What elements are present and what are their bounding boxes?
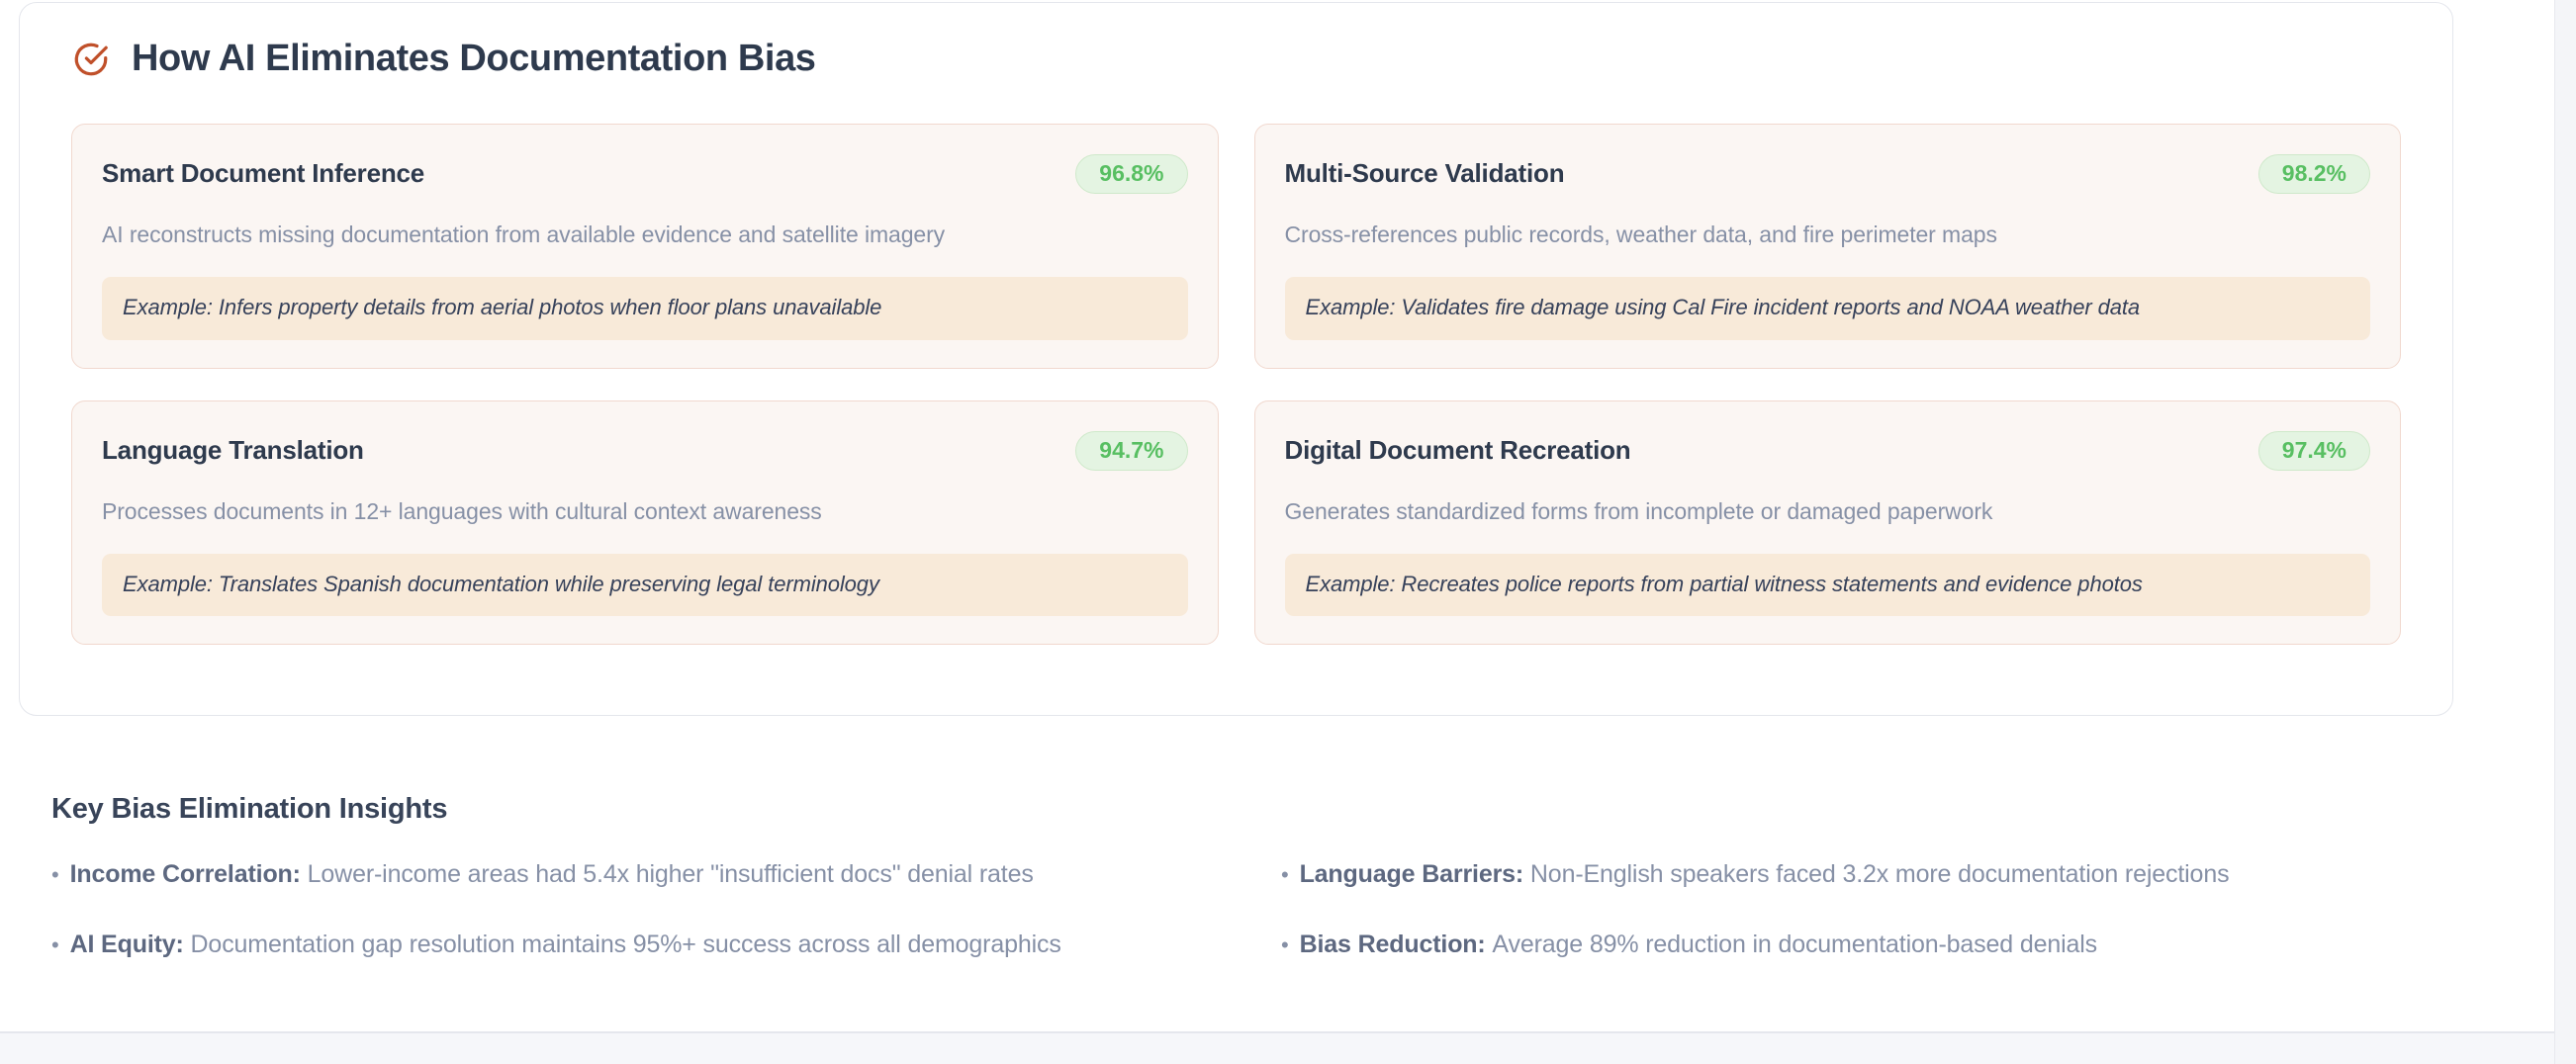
- bullet-icon: •: [1281, 934, 1289, 956]
- page-scrollbar-track[interactable]: [2554, 0, 2576, 1064]
- check-circle-icon: [72, 41, 110, 78]
- card-header: Digital Document Recreation 97.4%: [1285, 431, 2371, 471]
- insight-body: Language Barriers: Non-English speakers …: [1300, 859, 2230, 890]
- insight-item: • Language Barriers: Non-English speaker…: [1281, 859, 2445, 890]
- feature-card-grid: Smart Document Inference 96.8% AI recons…: [20, 78, 2452, 645]
- insight-text: Non-English speakers faced 3.2x more doc…: [1530, 860, 2230, 888]
- page-title: How AI Eliminates Documentation Bias: [132, 40, 816, 77]
- bullet-icon: •: [51, 934, 59, 956]
- insight-body: AI Equity: Documentation gap resolution …: [70, 930, 1061, 960]
- card-title: Smart Document Inference: [102, 159, 424, 189]
- insight-body: Bias Reduction: Average 89% reduction in…: [1300, 930, 2097, 960]
- insight-body: Income Correlation: Lower-income areas h…: [70, 859, 1034, 890]
- card-title: Language Translation: [102, 436, 364, 466]
- accuracy-badge: 96.8%: [1075, 154, 1187, 194]
- insight-item: • Bias Reduction: Average 89% reduction …: [1281, 930, 2445, 960]
- card-example: Example: Infers property details from ae…: [102, 277, 1188, 340]
- feature-card[interactable]: Smart Document Inference 96.8% AI recons…: [71, 124, 1219, 369]
- feature-card[interactable]: Language Translation 94.7% Processes doc…: [71, 400, 1219, 646]
- documentation-bias-panel: How AI Eliminates Documentation Bias Sma…: [19, 2, 2453, 716]
- card-description: Cross-references public records, weather…: [1285, 220, 2371, 250]
- insight-text: Lower-income areas had 5.4x higher "insu…: [308, 860, 1034, 888]
- card-description: Generates standardized forms from incomp…: [1285, 496, 2371, 527]
- card-example: Example: Recreates police reports from p…: [1285, 554, 2371, 617]
- screenshot-viewport: How AI Eliminates Documentation Bias Sma…: [0, 0, 2576, 1064]
- bottom-strip: [0, 1033, 2554, 1064]
- feature-card[interactable]: Digital Document Recreation 97.4% Genera…: [1254, 400, 2402, 646]
- bullet-icon: •: [51, 864, 59, 886]
- card-title: Digital Document Recreation: [1285, 436, 1631, 466]
- feature-card[interactable]: Multi-Source Validation 98.2% Cross-refe…: [1254, 124, 2402, 369]
- card-header: Smart Document Inference 96.8%: [102, 154, 1188, 194]
- bullet-icon: •: [1281, 864, 1289, 886]
- card-description: AI reconstructs missing documentation fr…: [102, 220, 1188, 250]
- card-header: Multi-Source Validation 98.2%: [1285, 154, 2371, 194]
- page-content: How AI Eliminates Documentation Bias Sma…: [0, 0, 2554, 1064]
- key-insights-section: Key Bias Elimination Insights • Income C…: [51, 793, 2445, 961]
- card-title: Multi-Source Validation: [1285, 159, 1565, 189]
- panel-header: How AI Eliminates Documentation Bias: [20, 3, 2452, 78]
- card-header: Language Translation 94.7%: [102, 431, 1188, 471]
- insight-item: • Income Correlation: Lower-income areas…: [51, 859, 1281, 890]
- insight-label: Bias Reduction:: [1300, 931, 1493, 958]
- insight-text: Documentation gap resolution maintains 9…: [191, 931, 1061, 958]
- insights-title: Key Bias Elimination Insights: [51, 793, 2445, 826]
- card-example: Example: Validates fire damage using Cal…: [1285, 277, 2371, 340]
- insight-text: Average 89% reduction in documentation-b…: [1492, 931, 2097, 958]
- card-description: Processes documents in 12+ languages wit…: [102, 496, 1188, 527]
- accuracy-badge: 94.7%: [1075, 431, 1187, 471]
- insight-label: Language Barriers:: [1300, 860, 1530, 888]
- insight-label: Income Correlation:: [70, 860, 308, 888]
- accuracy-badge: 97.4%: [2258, 431, 2370, 471]
- insights-grid: • Income Correlation: Lower-income areas…: [51, 859, 2445, 961]
- insight-item: • AI Equity: Documentation gap resolutio…: [51, 930, 1281, 960]
- card-example: Example: Translates Spanish documentatio…: [102, 554, 1188, 617]
- accuracy-badge: 98.2%: [2258, 154, 2370, 194]
- insight-label: AI Equity:: [70, 931, 191, 958]
